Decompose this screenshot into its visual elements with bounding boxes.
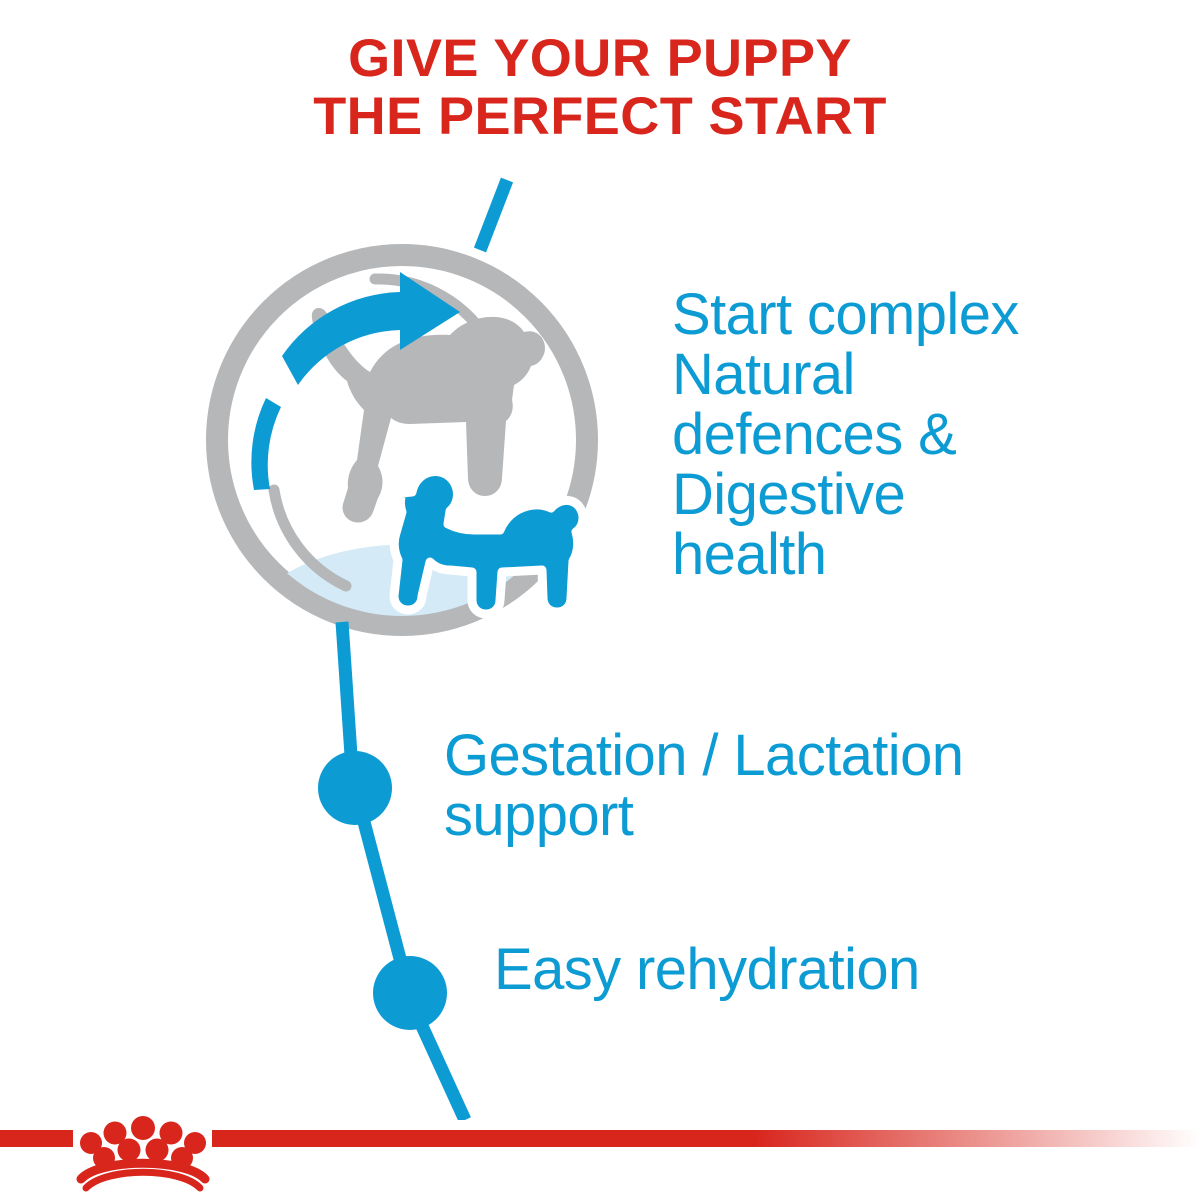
benefit-text-start-complex: Start complex Natural defences & Digesti… (672, 285, 1172, 585)
page-title: GIVE YOUR PUPPY THE PERFECT START (0, 30, 1200, 146)
brand-rule-right (212, 1130, 1200, 1147)
brand-rule-left (0, 1130, 73, 1147)
promo-panel: GIVE YOUR PUPPY THE PERFECT START (0, 0, 1200, 1200)
connector-segment-2 (364, 822, 403, 970)
headline-line-2: THE PERFECT START (0, 88, 1200, 146)
brand-footer (0, 1100, 1200, 1200)
connector-segment-1 (342, 622, 352, 770)
crown-dot (146, 1139, 169, 1162)
headline-line-1: GIVE YOUR PUPPY (0, 30, 1200, 88)
crown-base-arc-inner (86, 1172, 200, 1188)
connector-node-2 (373, 956, 447, 1030)
crown-dot (118, 1139, 141, 1162)
royal-canin-crown-logo (80, 1116, 206, 1188)
connector-top-stub (480, 180, 507, 250)
benefit-text-gestation-lactation: Gestation / Lactation support (444, 726, 1174, 846)
crown-dot (131, 1116, 155, 1140)
connector-node-1 (318, 751, 392, 825)
benefit-text-easy-rehydration: Easy rehydration (494, 940, 1134, 1000)
